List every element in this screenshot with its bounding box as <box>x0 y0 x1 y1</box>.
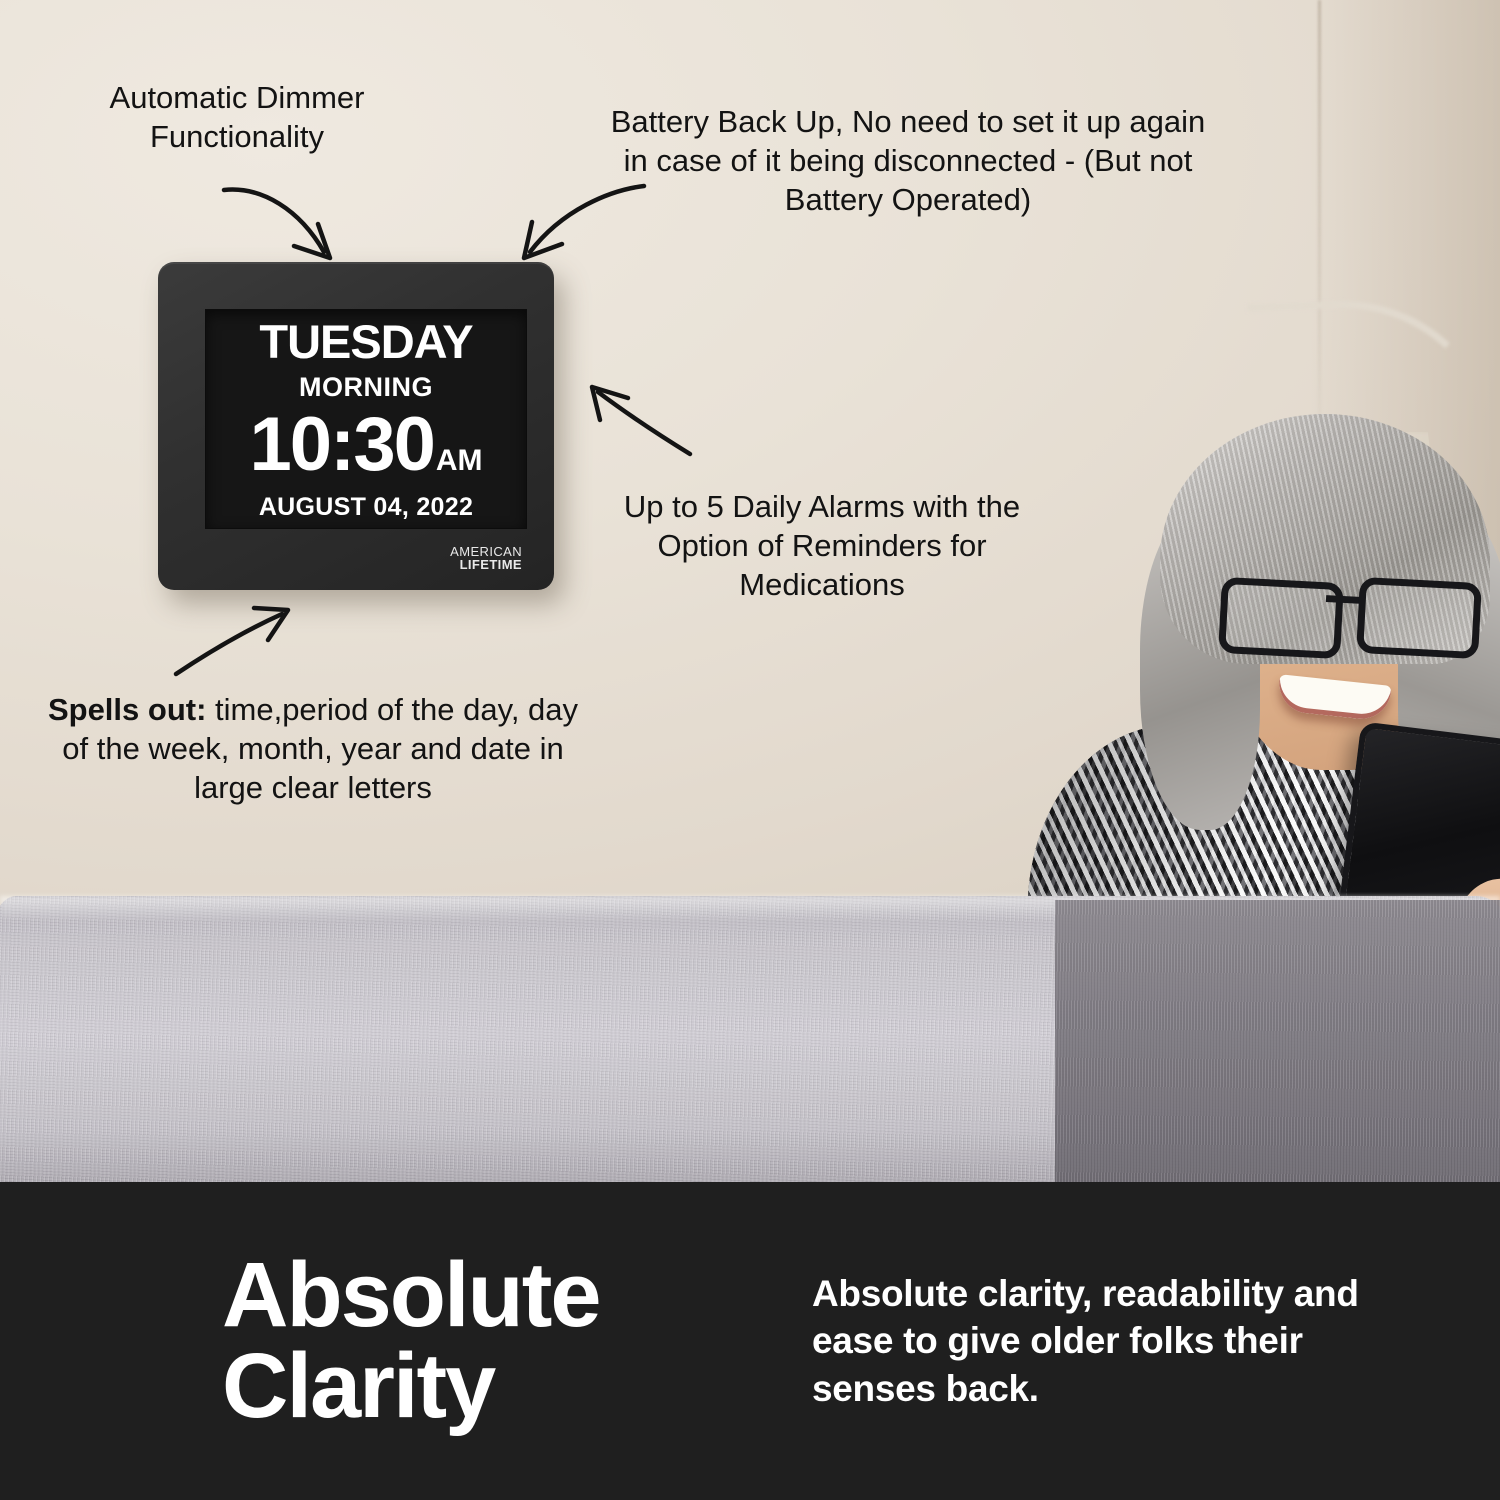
product-infographic: TUESDAY MORNING 10:30 AM AUGUST 04, 2022… <box>0 0 1500 1500</box>
annotation-battery: Battery Back Up, No need to set it up ag… <box>598 102 1218 219</box>
annotation-spells-bold: Spells out: <box>48 692 206 727</box>
banner-title: Absolute Clarity <box>222 1250 762 1432</box>
banner-subtitle: Absolute clarity, readability and ease t… <box>812 1270 1392 1412</box>
curved-arrow-down-right-icon <box>218 180 358 270</box>
banner-content: Absolute Clarity Absolute clarity, reada… <box>0 1182 1500 1500</box>
bottom-banner: Absolute Clarity Absolute clarity, reada… <box>0 1182 1500 1500</box>
brand-line-1: AMERICAN <box>450 545 522 559</box>
clock-day: TUESDAY <box>259 318 472 365</box>
clock-ampm: AM <box>436 446 483 476</box>
clock-time-row: 10:30 AM <box>249 407 482 483</box>
curved-arrow-down-left-icon <box>500 182 650 272</box>
clock-screen: TUESDAY MORNING 10:30 AM AUGUST 04, 2022 <box>206 310 526 528</box>
annotation-spells-out: Spells out: time,period of the day, day … <box>38 690 588 807</box>
brand-logo: AMERICAN LIFETIME <box>450 545 522 572</box>
brand-line-2: LIFETIME <box>450 558 522 572</box>
lens-left <box>1218 577 1344 659</box>
sofa-right-section <box>1055 900 1500 1182</box>
curved-arrow-up-left-icon <box>584 382 714 462</box>
banner-title-line-2: Clarity <box>222 1341 762 1432</box>
banner-title-line-1: Absolute <box>222 1250 762 1341</box>
lens-right <box>1356 577 1482 659</box>
digital-day-clock: TUESDAY MORNING 10:30 AM AUGUST 04, 2022… <box>158 262 554 590</box>
curved-arrow-up-right-icon <box>168 602 298 682</box>
clock-time: 10:30 <box>249 407 433 483</box>
eyeglasses-icon <box>1218 576 1480 648</box>
annotation-dimmer: Automatic Dimmer Functionality <box>42 78 432 156</box>
annotation-alarms: Up to 5 Daily Alarms with the Option of … <box>582 487 1062 604</box>
clock-period: MORNING <box>299 374 433 401</box>
clock-date: AUGUST 04, 2022 <box>259 495 473 520</box>
